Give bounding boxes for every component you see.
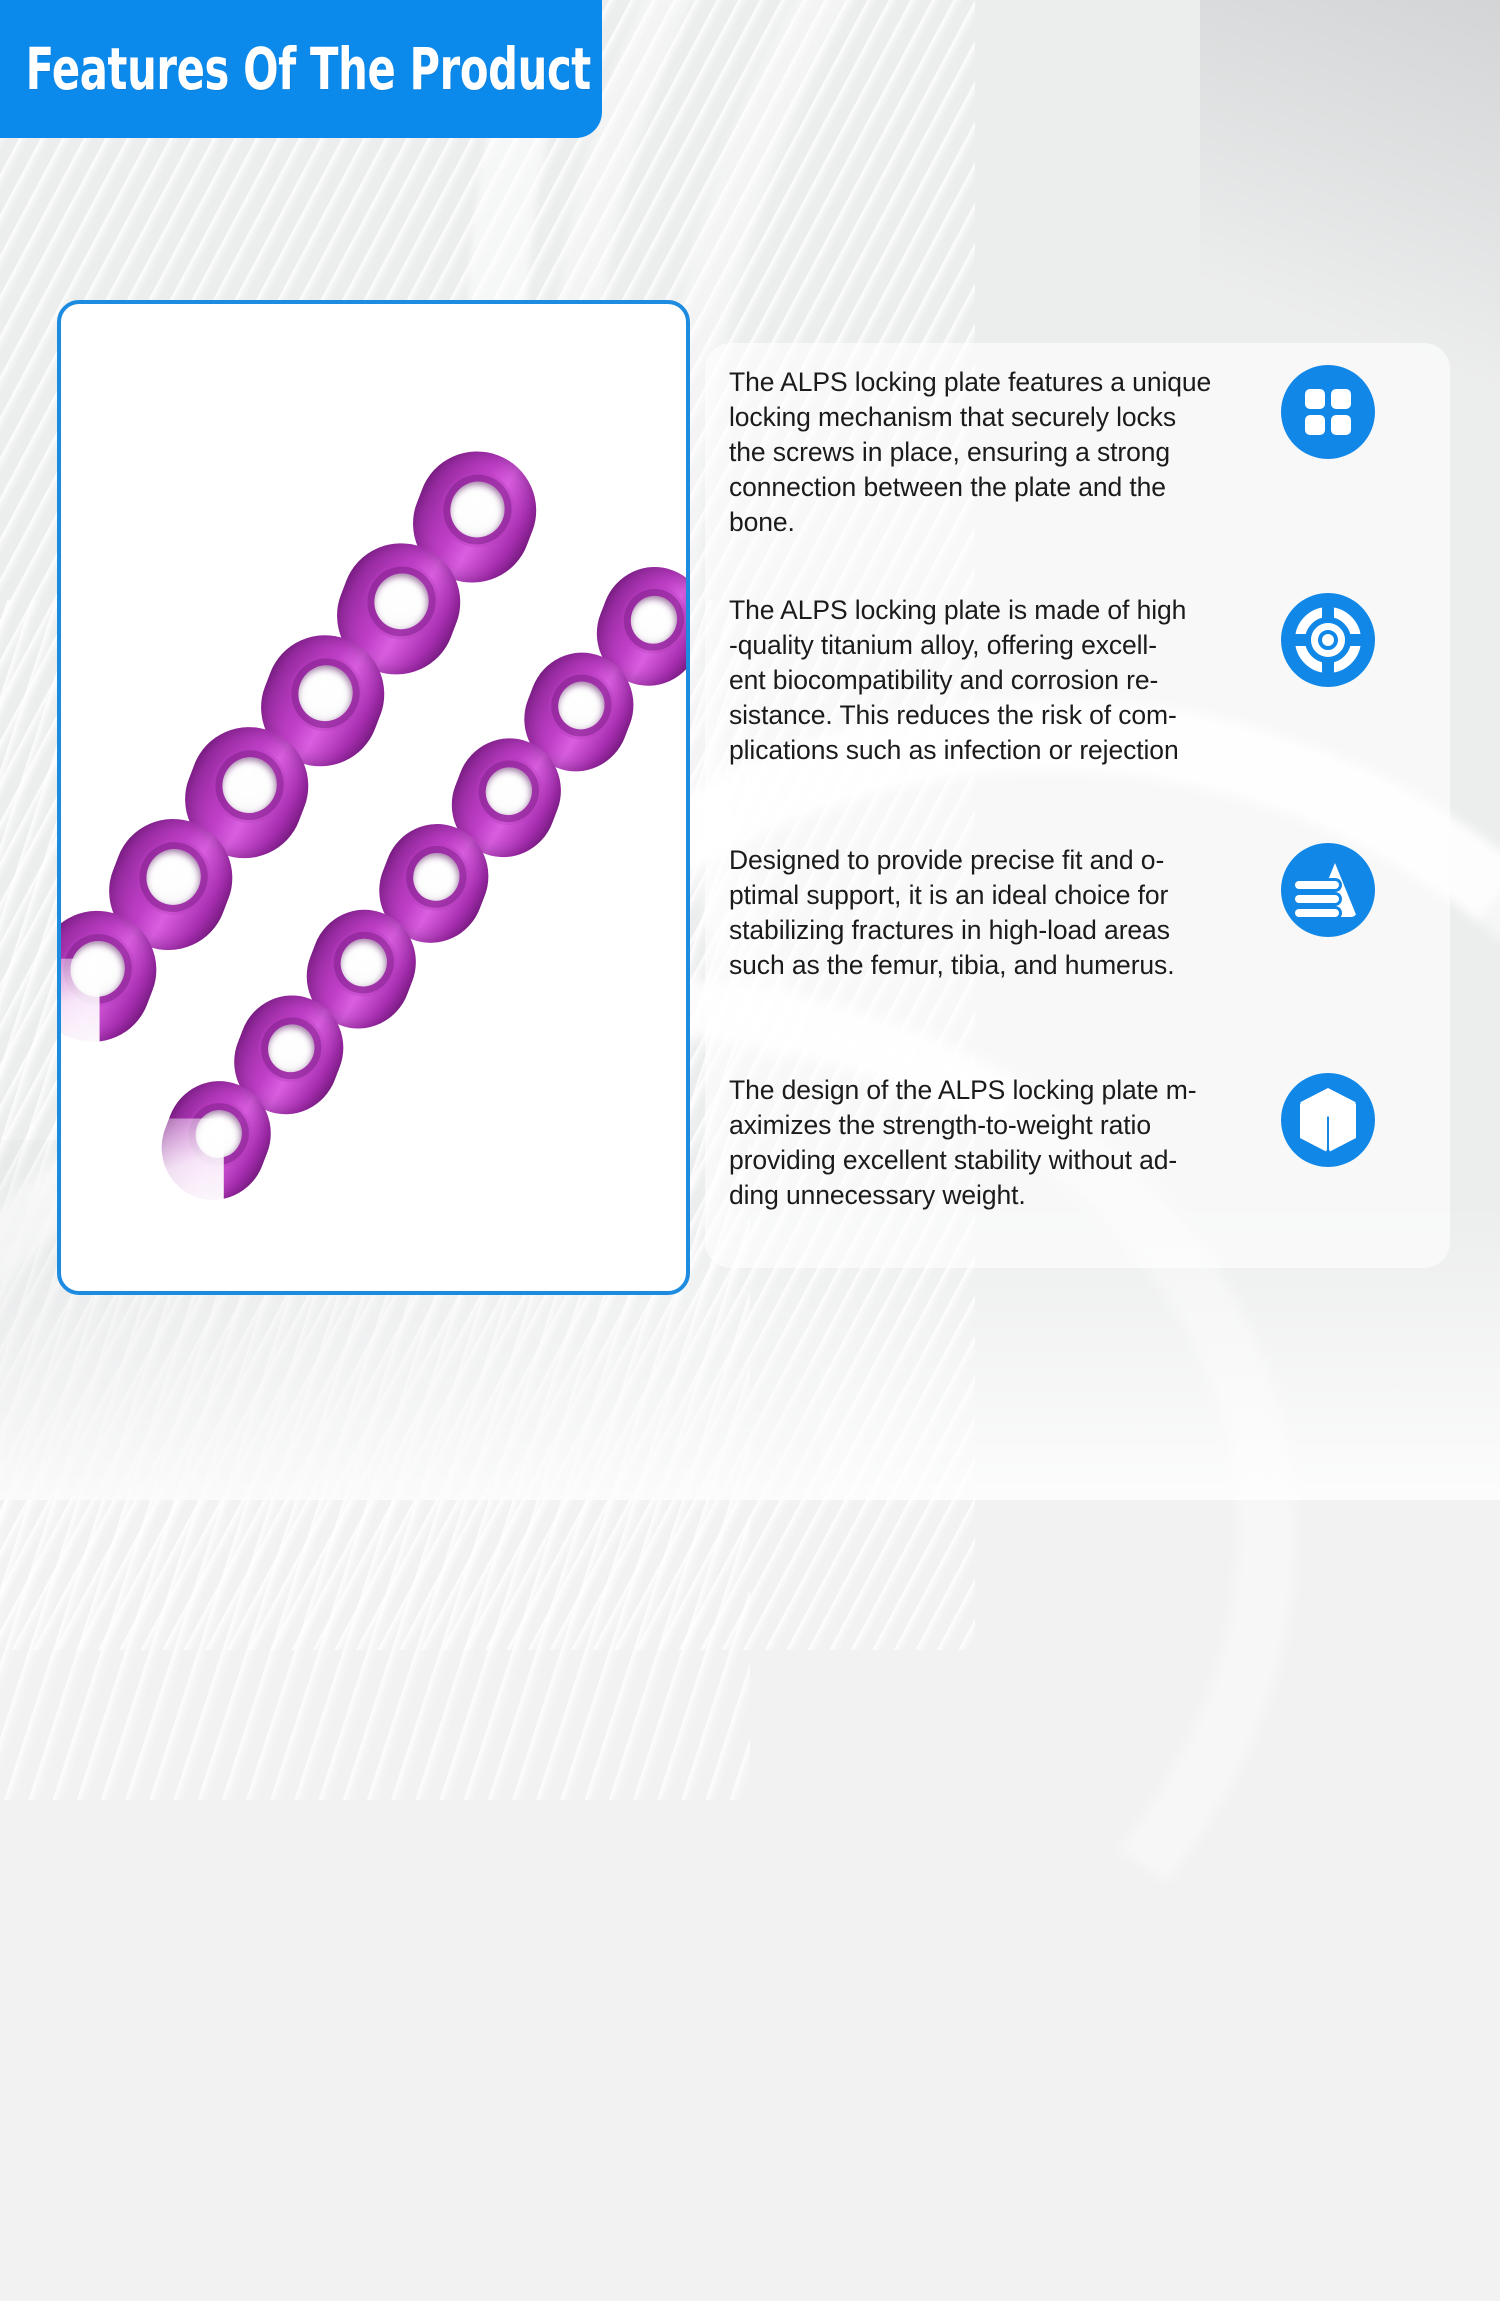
feature-text: The design of the ALPS locking plate m- …	[705, 1073, 1245, 1213]
feature-icon-wrap	[1269, 593, 1387, 687]
feature-row: The ALPS locking plate is made of high -…	[705, 593, 1450, 768]
bar	[1295, 909, 1339, 917]
features-panel: The ALPS locking plate features a unique…	[705, 343, 1450, 1268]
bar	[1295, 881, 1339, 889]
feature-row: Designed to provide precise fit and o- p…	[705, 843, 1450, 983]
grid-cell	[1305, 415, 1325, 435]
header-banner: Features Of The Product	[0, 0, 602, 138]
screw-hole	[406, 846, 466, 907]
feature-text: The ALPS locking plate is made of high -…	[705, 593, 1245, 768]
feature-row: The ALPS locking plate features a unique…	[705, 365, 1450, 540]
feature-row: The design of the ALPS locking plate m- …	[705, 1073, 1450, 1213]
screw-hole	[214, 749, 284, 821]
cube-box-icon-glyph	[1298, 1088, 1358, 1152]
grid-icon	[1281, 365, 1375, 459]
grid-cell	[1331, 415, 1351, 435]
target-center-dot	[1322, 634, 1334, 646]
stacked-bars	[1295, 881, 1339, 923]
screw-hole	[551, 675, 611, 736]
grid-icon-glyph	[1305, 389, 1351, 435]
triangle-bars-icon	[1281, 843, 1375, 937]
feature-icon-wrap	[1269, 843, 1387, 937]
screw-hole	[479, 760, 539, 821]
grid-cell	[1305, 389, 1325, 409]
bar	[1295, 895, 1339, 903]
screw-hole	[62, 933, 132, 1005]
screw-hole	[189, 1103, 249, 1164]
screw-hole	[290, 658, 360, 730]
screw-hole	[624, 589, 684, 650]
feature-icon-wrap	[1269, 365, 1387, 459]
cube-box-icon	[1281, 1073, 1375, 1167]
grid-cell	[1331, 389, 1351, 409]
page-title: Features Of The Product	[0, 35, 591, 103]
product-image-card	[57, 300, 690, 1295]
screw-hole	[334, 932, 394, 993]
feature-icon-wrap	[1269, 1073, 1387, 1167]
screw-hole	[138, 841, 208, 913]
feature-text: Designed to provide precise fit and o- p…	[705, 843, 1245, 983]
screw-hole	[261, 1017, 321, 1078]
feature-text: The ALPS locking plate features a unique…	[705, 365, 1245, 540]
product-photo	[61, 304, 686, 1291]
target-icon	[1281, 593, 1375, 687]
triangle-bars-icon-glyph	[1297, 859, 1359, 921]
target-icon-glyph	[1295, 607, 1361, 673]
